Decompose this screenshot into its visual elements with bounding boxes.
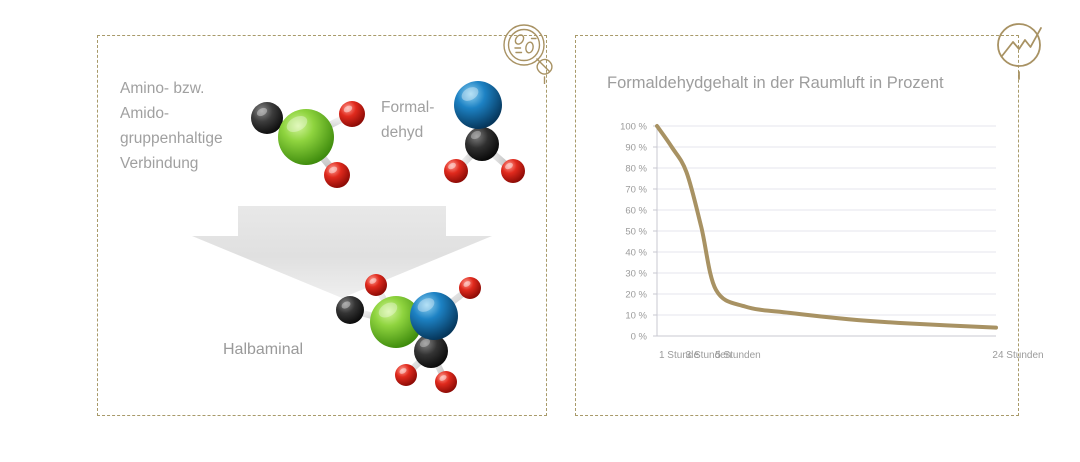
- chart-gridlines: [653, 126, 996, 336]
- chart-data-line: [657, 126, 996, 328]
- chart-y-axis-labels: 100 %90 %80 %70 %60 %50 %40 %30 %20 %10 …: [620, 122, 647, 343]
- y-axis-tick-label: 80 %: [625, 164, 647, 175]
- y-axis-tick-label: 70 %: [625, 185, 647, 196]
- y-axis-tick-label: 0 %: [631, 332, 648, 343]
- y-axis-tick-label: 90 %: [625, 143, 647, 154]
- x-axis-tick-label: 5 Stunden: [715, 350, 761, 361]
- x-axis-tick-label: 24 Stunden: [992, 350, 1043, 361]
- chart-x-axis-labels: 1 Stunde3 Stunden5 Stunden24 Stunden: [659, 350, 1044, 361]
- chart-title: Formaldehydgehalt in der Raumluft in Pro…: [607, 74, 944, 93]
- y-axis-tick-label: 60 %: [625, 206, 647, 217]
- y-axis-tick-label: 30 %: [625, 269, 647, 280]
- y-axis-tick-label: 40 %: [625, 248, 647, 259]
- y-axis-tick-label: 20 %: [625, 290, 647, 301]
- y-axis-tick-label: 100 %: [620, 122, 647, 133]
- formaldehyde-molecule: [437, 72, 541, 192]
- y-axis-tick-label: 50 %: [625, 227, 647, 238]
- product-label: Halbaminal: [223, 337, 383, 362]
- y-axis-tick-label: 10 %: [625, 311, 647, 322]
- line-chart: 100 %90 %80 %70 %60 %50 %40 %30 %20 %10 …: [600, 118, 1004, 380]
- amino-compound-molecule: [240, 82, 370, 194]
- trend-chart-icon: [991, 18, 1053, 80]
